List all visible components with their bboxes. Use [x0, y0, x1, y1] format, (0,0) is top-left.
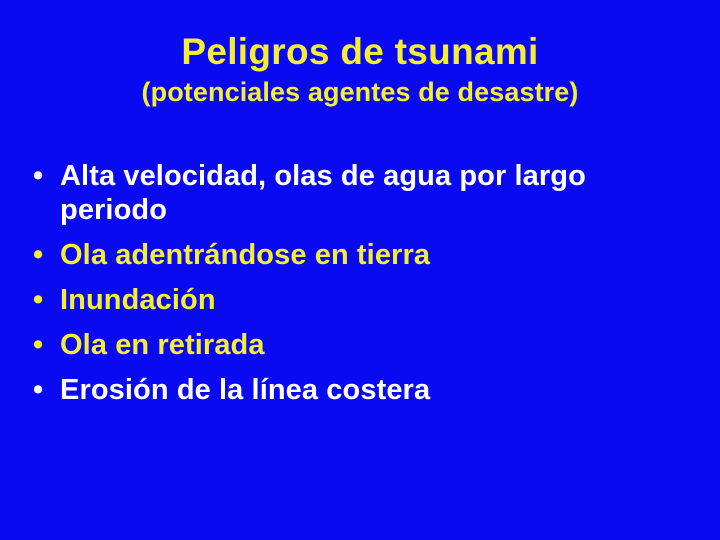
list-item-label: Ola adentrándose en tierra	[60, 239, 430, 271]
slide-title-block: Peligros de tsunami (potenciales agentes…	[0, 32, 720, 107]
bullet-point-icon: •	[33, 329, 43, 363]
bullet-point-icon: •	[33, 284, 43, 318]
list-item: • Ola en retirada	[27, 329, 637, 363]
list-item-label: Erosión de la línea costera	[60, 374, 430, 406]
page-subtitle: (potenciales agentes de desastre)	[0, 77, 720, 107]
list-item-label: Ola en retirada	[60, 329, 265, 361]
hazard-bullet-list: • Alta velocidad, olas de agua por largo…	[27, 160, 637, 419]
list-item-label: Alta velocidad, olas de agua por largo p…	[60, 160, 586, 226]
list-item: • Ola adentrándose en tierra	[27, 239, 637, 273]
list-item: • Alta velocidad, olas de agua por largo…	[27, 160, 637, 228]
list-item: • Inundación	[27, 284, 637, 318]
list-item: • Erosión de la línea costera	[27, 374, 637, 408]
page-title: Peligros de tsunami	[0, 32, 720, 72]
bullet-point-icon: •	[33, 239, 43, 273]
bullet-point-icon: •	[33, 374, 43, 408]
presentation-slide: Peligros de tsunami (potenciales agentes…	[0, 0, 720, 540]
bullet-point-icon: •	[33, 160, 43, 194]
list-item-label: Inundación	[60, 284, 216, 316]
